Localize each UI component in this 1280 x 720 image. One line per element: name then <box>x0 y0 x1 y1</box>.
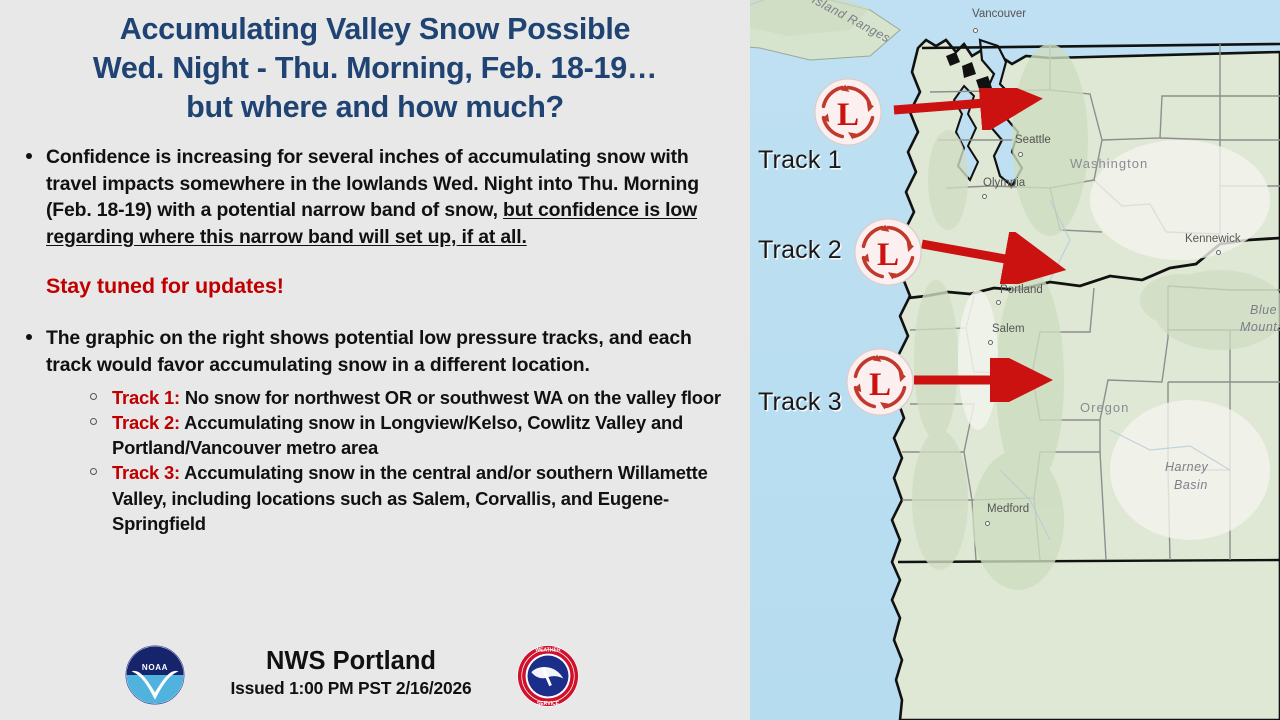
noaa-logo-icon: NOAA <box>124 644 186 706</box>
map-label-washington: Washington <box>1070 156 1148 171</box>
city-dot-medford <box>985 521 990 526</box>
footer-text-block: NWS Portland Issued 1:00 PM PST 2/16/202… <box>186 646 516 700</box>
bullet-ring-icon <box>90 468 97 475</box>
low-letter: L <box>837 96 859 133</box>
map-label-mountains: Mountains <box>1240 320 1280 334</box>
map-label-salem: Salem <box>992 323 1025 335</box>
city-dot-salem <box>988 340 993 345</box>
city-dot-portland <box>996 300 1001 305</box>
track-2-map-label: Track 2 <box>758 236 842 265</box>
title-line-3: but where and how much? <box>22 88 728 127</box>
office-name: NWS Portland <box>186 646 516 677</box>
svg-text:NOAA: NOAA <box>142 663 168 672</box>
map-label-basin: Basin <box>1174 478 1208 492</box>
track-2-label: Track 2: <box>112 412 180 433</box>
bullet-ring-icon <box>90 393 97 400</box>
bullet-dot-icon <box>26 153 32 159</box>
bullet-graphic-explainer: The graphic on the right shows potential… <box>14 325 738 536</box>
track-2-description: Accumulating snow in Longview/Kelso, Cow… <box>112 412 683 458</box>
map-label-blue: Blue <box>1250 303 1277 317</box>
city-dot-kennewick <box>1216 250 1221 255</box>
bullet-graphic-text: The graphic on the right shows potential… <box>46 327 692 376</box>
city-dot-vancouver <box>973 28 978 33</box>
map-label-vancouver: Vancouver <box>972 8 1026 20</box>
map-label-seattle: Seattle <box>1015 134 1051 146</box>
track-2-arrow-icon <box>918 232 1078 284</box>
slide-footer: NOAA NWS Portland Issued 1:00 PM PST 2/1… <box>0 640 750 714</box>
title-line-1: Accumulating Valley Snow Possible <box>22 10 728 49</box>
track-3-description: Accumulating snow in the central and/or … <box>112 462 708 534</box>
title-line-2: Wed. Night - Thu. Morning, Feb. 18-19… <box>22 49 728 88</box>
map-label-medford: Medford <box>987 503 1029 515</box>
low-pressure-track-map: Vancouver Seattle Olympia Kennewick Port… <box>750 0 1280 720</box>
city-dot-seattle <box>1018 152 1023 157</box>
page-title: Accumulating Valley Snow Possible Wed. N… <box>22 10 728 127</box>
low-letter: L <box>877 236 899 273</box>
list-item-track-3: Track 3: Accumulating snow in the centra… <box>78 460 738 536</box>
map-label-portland: Portland <box>1000 284 1043 296</box>
city-dot-olympia <box>982 194 987 199</box>
bullet-dot-icon <box>26 334 32 340</box>
track-3-map-label: Track 3 <box>758 388 842 417</box>
track-1-label: Track 1: <box>112 387 180 408</box>
track-3-label: Track 3: <box>112 462 180 483</box>
track-sub-list: Track 1: No snow for northwest OR or sou… <box>46 385 738 537</box>
track-3-arrow-icon <box>910 358 1070 402</box>
map-label-harney: Harney <box>1165 460 1208 474</box>
track-1-description: No snow for northwest OR or southwest WA… <box>180 387 721 408</box>
stay-tuned-callout: Stay tuned for updates! <box>46 274 738 299</box>
left-text-panel: Accumulating Valley Snow Possible Wed. N… <box>0 0 750 720</box>
main-bullet-list: Confidence is increasing for several inc… <box>14 144 738 250</box>
low-pressure-symbol-track-3: L <box>844 346 916 418</box>
map-label-olympia: Olympia <box>983 177 1025 189</box>
svg-text:WEATHER: WEATHER <box>535 648 561 654</box>
nws-logo-icon: WEATHER SERVICE <box>516 644 580 708</box>
bullet-ring-icon <box>90 418 97 425</box>
track-1-map-label: Track 1 <box>758 146 842 175</box>
issued-timestamp: Issued 1:00 PM PST 2/16/2026 <box>186 677 516 700</box>
map-label-oregon: Oregon <box>1080 400 1129 415</box>
low-pressure-symbol-track-1: L <box>812 76 884 148</box>
list-item-track-2: Track 2: Accumulating snow in Longview/K… <box>78 410 738 461</box>
svg-text:SERVICE: SERVICE <box>537 701 560 707</box>
secondary-bullet-list: The graphic on the right shows potential… <box>14 325 738 536</box>
body-content: Confidence is increasing for several inc… <box>14 144 738 536</box>
bullet-confidence: Confidence is increasing for several inc… <box>14 144 738 250</box>
low-letter: L <box>869 366 891 403</box>
weather-graphic-slide: Accumulating Valley Snow Possible Wed. N… <box>0 0 1280 720</box>
list-item-track-1: Track 1: No snow for northwest OR or sou… <box>78 385 738 410</box>
low-pressure-symbol-track-2: L <box>852 216 924 288</box>
map-label-kennewick: Kennewick <box>1185 233 1241 245</box>
track-1-arrow-icon <box>890 88 1050 130</box>
